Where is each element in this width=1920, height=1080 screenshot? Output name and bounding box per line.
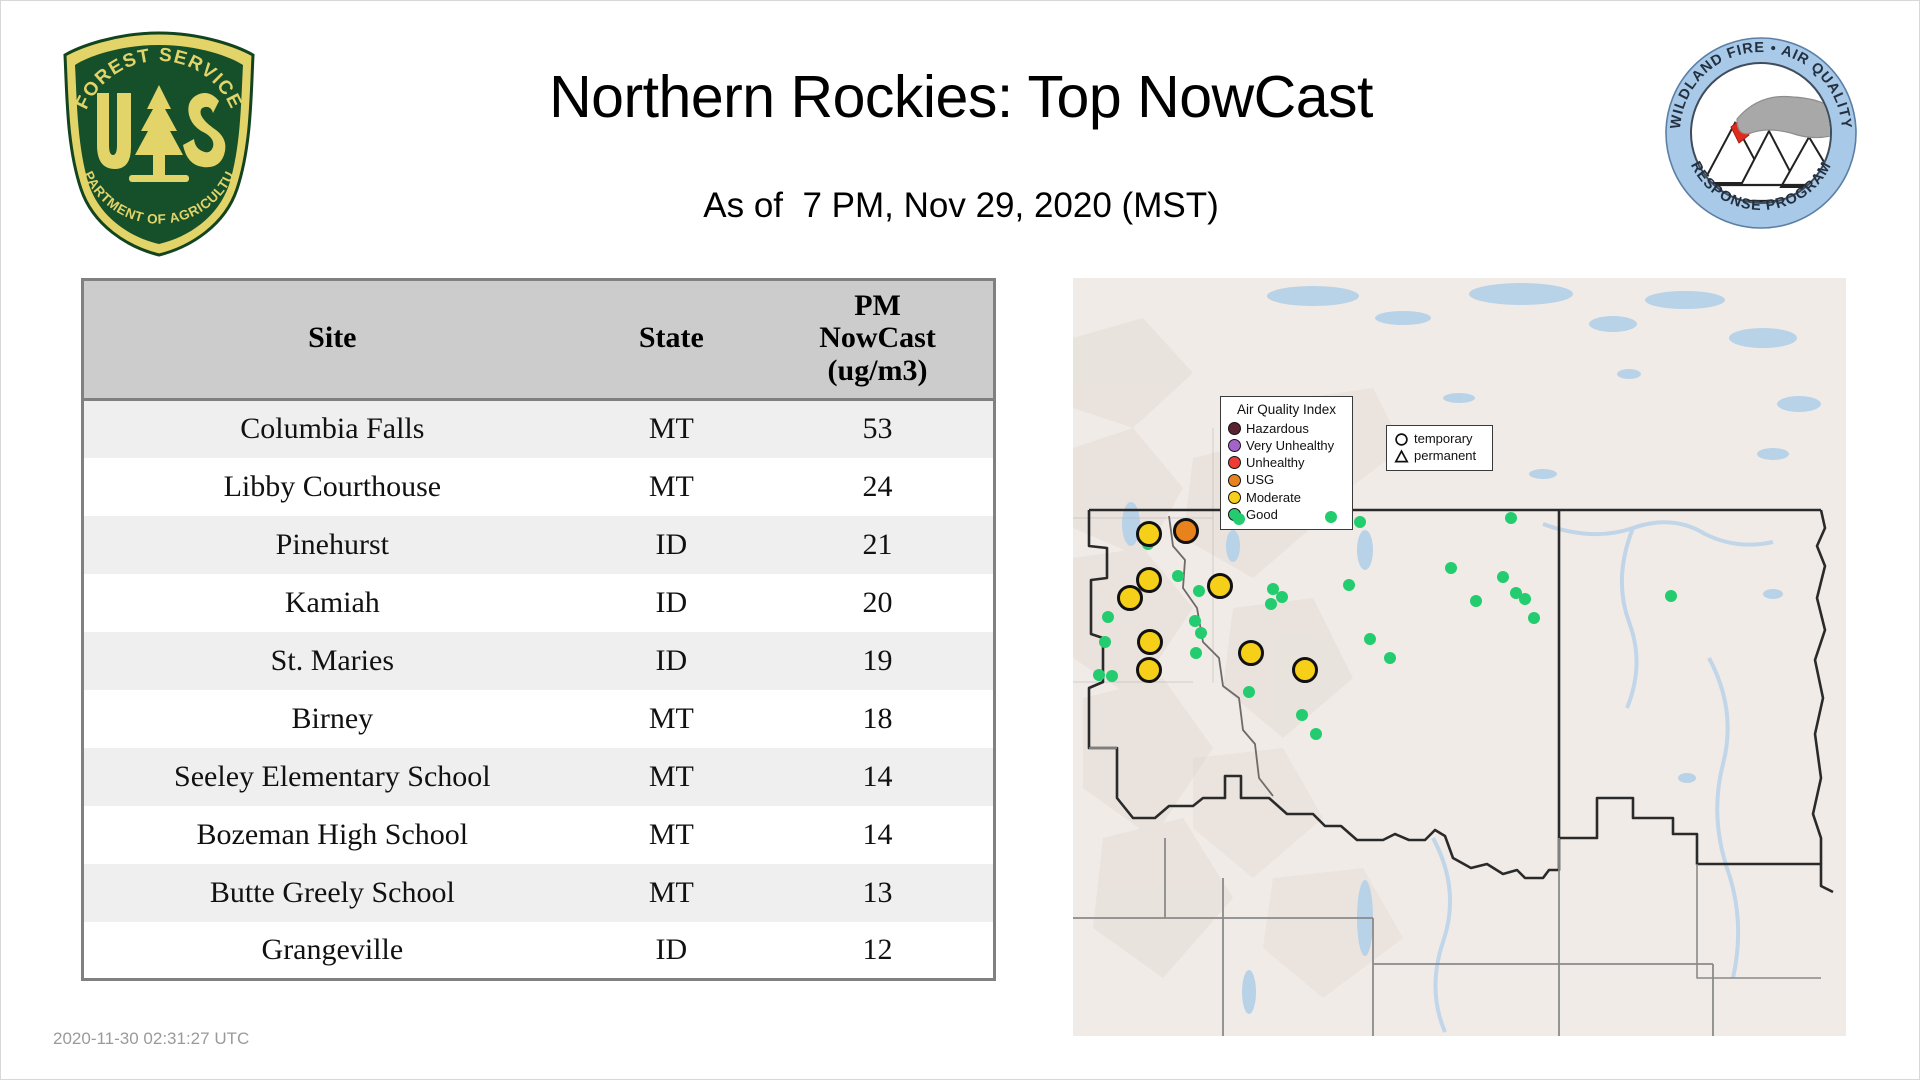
table-header-row: Site State PM NowCast (ug/m3): [83, 280, 995, 400]
station-marker[interactable]: [1102, 611, 1114, 623]
aqi-color-swatch: [1228, 456, 1241, 469]
station-marker[interactable]: [1106, 670, 1118, 682]
site-name: Birney: [83, 690, 581, 748]
station-marker[interactable]: [1265, 598, 1277, 610]
page-subtitle: As of 7 PM, Nov 29, 2020 (MST): [331, 186, 1591, 226]
station-marker[interactable]: [1238, 640, 1264, 666]
column-header-site: Site: [83, 280, 581, 400]
aqi-color-swatch: [1228, 439, 1241, 452]
marker-legend-temporary: temporary: [1394, 431, 1486, 448]
station-marker[interactable]: [1343, 579, 1355, 591]
wildland-fire-air-quality-logo: WILDLAND FIRE • AIR QUALITY RESPONSE PRO…: [1663, 35, 1859, 231]
station-marker[interactable]: [1384, 652, 1396, 664]
state-code: ID: [581, 632, 762, 690]
table-row: PinehurstID21: [83, 516, 995, 574]
station-marker[interactable]: [1665, 590, 1677, 602]
aqi-legend-item: Unhealthy: [1228, 454, 1345, 471]
state-code: ID: [581, 516, 762, 574]
site-name: Pinehurst: [83, 516, 581, 574]
aqi-color-swatch: [1228, 474, 1241, 487]
aqi-legend-label: Moderate: [1246, 489, 1301, 506]
pm-nowcast-value: 20: [762, 574, 994, 632]
column-header-site-label: Site: [308, 321, 356, 354]
pm-nowcast-value: 12: [762, 922, 994, 980]
aqi-color-swatch: [1228, 422, 1241, 435]
station-marker[interactable]: [1136, 521, 1162, 547]
aqi-legend-label: Hazardous: [1246, 420, 1309, 437]
column-header-pm-nowcast: PM NowCast (ug/m3): [762, 280, 994, 400]
table-row: GrangevilleID12: [83, 922, 995, 980]
nowcast-report-page: FOREST SERVICE DEPARTMENT OF AGRICULTURE…: [0, 0, 1920, 1080]
table-row: Columbia FallsMT53: [83, 400, 995, 458]
pm-nowcast-value: 24: [762, 458, 994, 516]
column-header-pm-line3: (ug/m3): [762, 355, 993, 387]
state-code: MT: [581, 864, 762, 922]
column-header-state-label: State: [639, 321, 704, 354]
station-marker[interactable]: [1207, 573, 1233, 599]
pm-nowcast-value: 19: [762, 632, 994, 690]
aqi-legend: Air Quality Index HazardousVery Unhealth…: [1220, 396, 1353, 530]
marker-legend-permanent: permanent: [1394, 448, 1486, 465]
station-marker[interactable]: [1364, 633, 1376, 645]
station-marker[interactable]: [1276, 591, 1288, 603]
station-marker[interactable]: [1505, 512, 1517, 524]
column-header-state: State: [581, 280, 762, 400]
pm-nowcast-value: 18: [762, 690, 994, 748]
station-marker[interactable]: [1190, 647, 1202, 659]
marker-type-legend: temporary permanent: [1386, 425, 1493, 471]
table-header: Site State PM NowCast (ug/m3): [83, 280, 995, 400]
station-marker[interactable]: [1233, 513, 1245, 525]
aqi-legend-title: Air Quality Index: [1228, 402, 1345, 417]
aqi-legend-item: Very Unhealthy: [1228, 437, 1345, 454]
usfs-shield-logo: FOREST SERVICE DEPARTMENT OF AGRICULTURE: [53, 27, 265, 259]
station-marker[interactable]: [1310, 728, 1322, 740]
station-marker[interactable]: [1093, 669, 1105, 681]
aqi-legend-label: Good: [1246, 506, 1278, 523]
nowcast-table: Site State PM NowCast (ug/m3) Columbia F…: [81, 278, 996, 981]
table-row: KamiahID20: [83, 574, 995, 632]
pm-nowcast-value: 14: [762, 748, 994, 806]
station-marker[interactable]: [1354, 516, 1366, 528]
marker-legend-permanent-label: permanent: [1414, 448, 1476, 465]
table-row: Libby CourthouseMT24: [83, 458, 995, 516]
table-body: Columbia FallsMT53Libby CourthouseMT24Pi…: [83, 400, 995, 980]
pm-nowcast-value: 21: [762, 516, 994, 574]
station-marker[interactable]: [1172, 570, 1184, 582]
station-marker[interactable]: [1243, 686, 1255, 698]
table-row: St. MariesID19: [83, 632, 995, 690]
column-header-pm-line2: NowCast: [762, 322, 993, 354]
generated-timestamp: 2020-11-30 02:31:27 UTC: [53, 1029, 249, 1049]
nowcast-table-container: Site State PM NowCast (ug/m3) Columbia F…: [81, 278, 996, 981]
station-marker[interactable]: [1137, 629, 1163, 655]
state-code: MT: [581, 806, 762, 864]
site-name: St. Maries: [83, 632, 581, 690]
site-name: Butte Greely School: [83, 864, 581, 922]
state-code: MT: [581, 458, 762, 516]
station-marker[interactable]: [1470, 595, 1482, 607]
aqi-legend-item: Moderate: [1228, 489, 1345, 506]
circle-icon: [1394, 432, 1409, 447]
aqi-color-swatch: [1228, 491, 1241, 504]
station-marker[interactable]: [1117, 585, 1143, 611]
station-marker[interactable]: [1292, 657, 1318, 683]
triangle-icon: [1394, 449, 1409, 464]
aqi-legend-label: Unhealthy: [1246, 454, 1305, 471]
table-row: Butte Greely SchoolMT13: [83, 864, 995, 922]
station-marker[interactable]: [1296, 709, 1308, 721]
aqi-legend-label: USG: [1246, 471, 1274, 488]
station-marker[interactable]: [1195, 627, 1207, 639]
table-row: Bozeman High SchoolMT14: [83, 806, 995, 864]
site-name: Columbia Falls: [83, 400, 581, 458]
site-name: Bozeman High School: [83, 806, 581, 864]
aqi-legend-list: HazardousVery UnhealthyUnhealthyUSGModer…: [1228, 420, 1345, 523]
aqi-legend-label: Very Unhealthy: [1246, 437, 1334, 454]
aqi-legend-item: USG: [1228, 471, 1345, 488]
station-marker[interactable]: [1189, 615, 1201, 627]
state-code: MT: [581, 400, 762, 458]
site-name: Kamiah: [83, 574, 581, 632]
state-code: MT: [581, 748, 762, 806]
map-basemap: [1073, 278, 1846, 1036]
station-marker[interactable]: [1136, 657, 1162, 683]
air-quality-map[interactable]: Air Quality Index HazardousVery Unhealth…: [1073, 278, 1846, 1036]
station-marker[interactable]: [1325, 511, 1337, 523]
aqi-legend-item: Hazardous: [1228, 420, 1345, 437]
pm-nowcast-value: 53: [762, 400, 994, 458]
marker-legend-temporary-label: temporary: [1414, 431, 1473, 448]
table-row: BirneyMT18: [83, 690, 995, 748]
station-marker[interactable]: [1445, 562, 1457, 574]
table-row: Seeley Elementary SchoolMT14: [83, 748, 995, 806]
site-name: Seeley Elementary School: [83, 748, 581, 806]
page-title: Northern Rockies: Top NowCast: [331, 63, 1591, 131]
station-marker[interactable]: [1099, 636, 1111, 648]
site-name: Libby Courthouse: [83, 458, 581, 516]
station-marker[interactable]: [1173, 518, 1199, 544]
site-name: Grangeville: [83, 922, 581, 980]
station-marker[interactable]: [1193, 585, 1205, 597]
station-marker[interactable]: [1528, 612, 1540, 624]
pm-nowcast-value: 13: [762, 864, 994, 922]
station-marker[interactable]: [1497, 571, 1509, 583]
state-code: ID: [581, 574, 762, 632]
state-code: MT: [581, 690, 762, 748]
column-header-pm-line1: PM: [762, 290, 993, 322]
state-code: ID: [581, 922, 762, 980]
pm-nowcast-value: 14: [762, 806, 994, 864]
station-marker[interactable]: [1519, 593, 1531, 605]
